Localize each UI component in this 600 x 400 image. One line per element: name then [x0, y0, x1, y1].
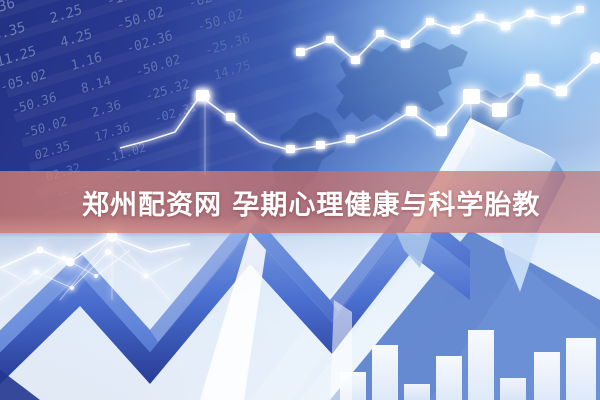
- title-band: 郑州配资网 孕期心理健康与科学胎教: [0, 171, 600, 233]
- page-title: 郑州配资网 孕期心理健康与科学胎教: [82, 183, 540, 222]
- stock-market-banner-image: -02.3621.02-02.3545.02-11.25-05.35-02.36…: [0, 0, 600, 400]
